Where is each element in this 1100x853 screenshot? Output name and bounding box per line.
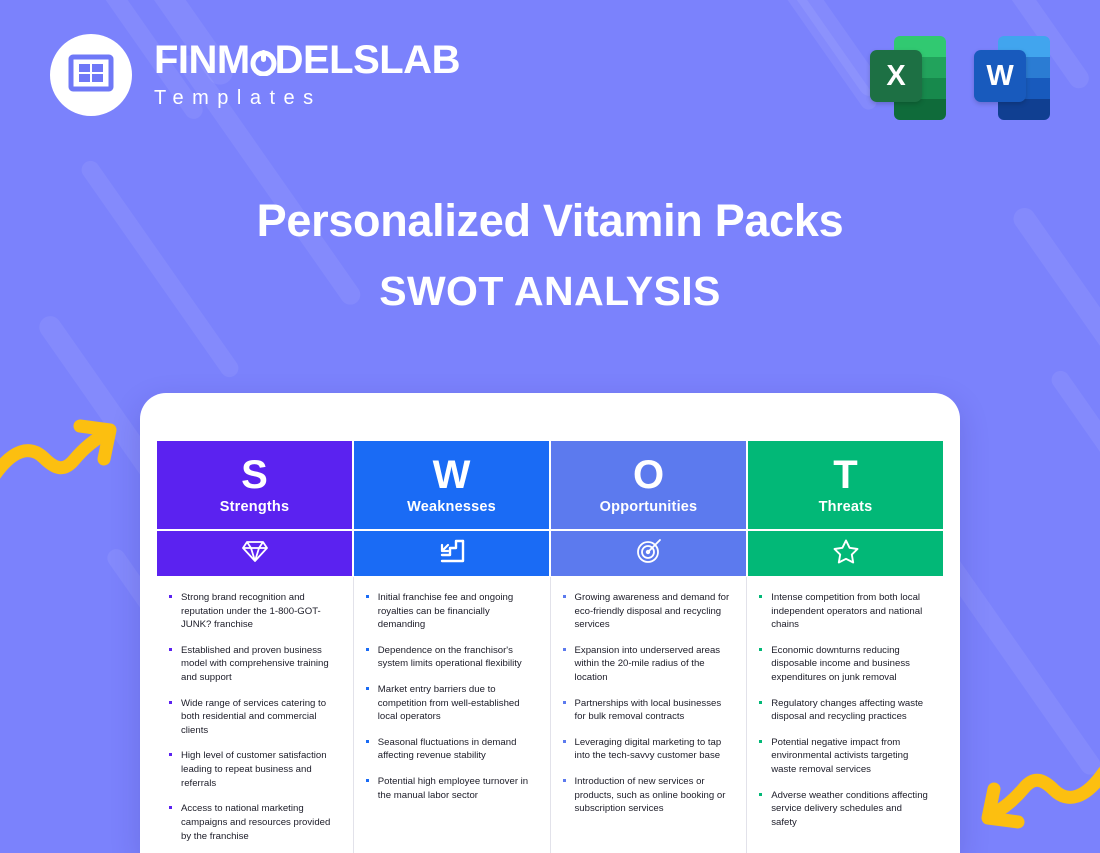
squiggly-arrow-up-right-icon [0,404,122,495]
excel-badge: X [870,50,922,102]
swot-label: Weaknesses [407,499,496,515]
logo-badge [50,34,132,116]
list-item: Leveraging digital marketing to tap into… [561,736,733,763]
swot-card: S Strengths W Weaknesses O Opportunities… [140,393,960,853]
swot-body-opportunities: Growing awareness and demand for eco-fri… [551,577,748,853]
page-subtitle: SWOT ANALYSIS [0,268,1100,315]
office-file-format-icons: X W [870,28,1050,120]
list-item: Potential high employee turnover in the … [364,775,536,802]
list-item: Seasonal fluctuations in demand affectin… [364,736,536,763]
brand-name-power-o [250,40,275,80]
list-item: Introduction of new services or products… [561,775,733,816]
swot-label: Strengths [220,499,289,515]
excel-icon: X [870,28,946,120]
swot-icon-cell-weaknesses [354,531,549,576]
brand-name: FINM DELSLAB [154,40,460,80]
list-item: Initial franchise fee and ongoing royalt… [364,591,536,632]
swot-icon-cell-opportunities [551,531,746,576]
bullet-list: Intense competition from both local inde… [757,591,929,830]
diamond-icon [242,538,268,569]
list-item: Wide range of services catering to both … [167,697,339,738]
swot-header-weaknesses[interactable]: W Weaknesses [354,441,549,529]
swot-body-row: Strong brand recognition and reputation … [157,577,943,853]
squiggly-arrow-down-left-icon [976,758,1100,849]
swot-letter: T [833,455,857,495]
brand-text: FINM DELSLAB Templates [154,40,460,110]
list-item: High level of customer satisfaction lead… [167,749,339,790]
list-item: Access to national marketing campaigns a… [167,802,339,843]
swot-letter: O [633,455,664,495]
swot-body-threats: Intense competition from both local inde… [747,577,943,853]
swot-label: Opportunities [600,499,698,515]
list-item: Potential negative impact from environme… [757,736,929,777]
swot-header-row: S Strengths W Weaknesses O Opportunities… [157,441,943,529]
list-item: Growing awareness and demand for eco-fri… [561,591,733,632]
swot-header-strengths[interactable]: S Strengths [157,441,352,529]
list-item: Economic downturns reducing disposable i… [757,644,929,685]
swot-letter: S [241,455,268,495]
brand-name-part2: DELSLAB [275,40,460,80]
brand-logo: FINM DELSLAB Templates [50,34,460,116]
list-item: Market entry barriers due to competition… [364,683,536,724]
star-icon [833,538,859,569]
swot-header-opportunities[interactable]: O Opportunities [551,441,746,529]
bullet-list: Strong brand recognition and reputation … [167,591,339,843]
swot-header-threats[interactable]: T Threats [748,441,943,529]
swot-body-weaknesses: Initial franchise fee and ongoing royalt… [354,577,551,853]
list-item: Established and proven business model wi… [167,644,339,685]
title-block: Personalized Vitamin Packs SWOT ANALYSIS [0,196,1100,315]
swot-icon-cell-threats [748,531,943,576]
swot-body-strengths: Strong brand recognition and reputation … [157,577,354,853]
brand-name-part1: FINM [154,40,250,80]
swot-icon-cell-strengths [157,531,352,576]
list-item: Intense competition from both local inde… [757,591,929,632]
page-header: FINM DELSLAB Templates X [0,0,1100,150]
bullet-list: Initial franchise fee and ongoing royalt… [364,591,536,802]
list-item: Partnerships with local businesses for b… [561,697,733,724]
bullet-list: Growing awareness and demand for eco-fri… [561,591,733,816]
swot-table: S Strengths W Weaknesses O Opportunities… [157,441,943,853]
declining-stairs-icon [439,538,465,569]
brush-stroke [1048,367,1100,590]
word-icon: W [974,28,1050,120]
swot-icon-row [157,531,943,576]
list-item: Adverse weather conditions affecting ser… [757,789,929,830]
word-badge: W [974,50,1026,102]
list-item: Regulatory changes affecting waste dispo… [757,697,929,724]
list-item: Strong brand recognition and reputation … [167,591,339,632]
target-icon [636,538,662,569]
list-item: Dependence on the franchisor's system li… [364,644,536,671]
swot-label: Threats [819,499,873,515]
list-item: Expansion into underserved areas within … [561,644,733,685]
swot-letter: W [433,455,471,495]
page-title: Personalized Vitamin Packs [0,196,1100,246]
brand-subtitle: Templates [154,87,460,110]
grid-square-icon [67,49,115,102]
